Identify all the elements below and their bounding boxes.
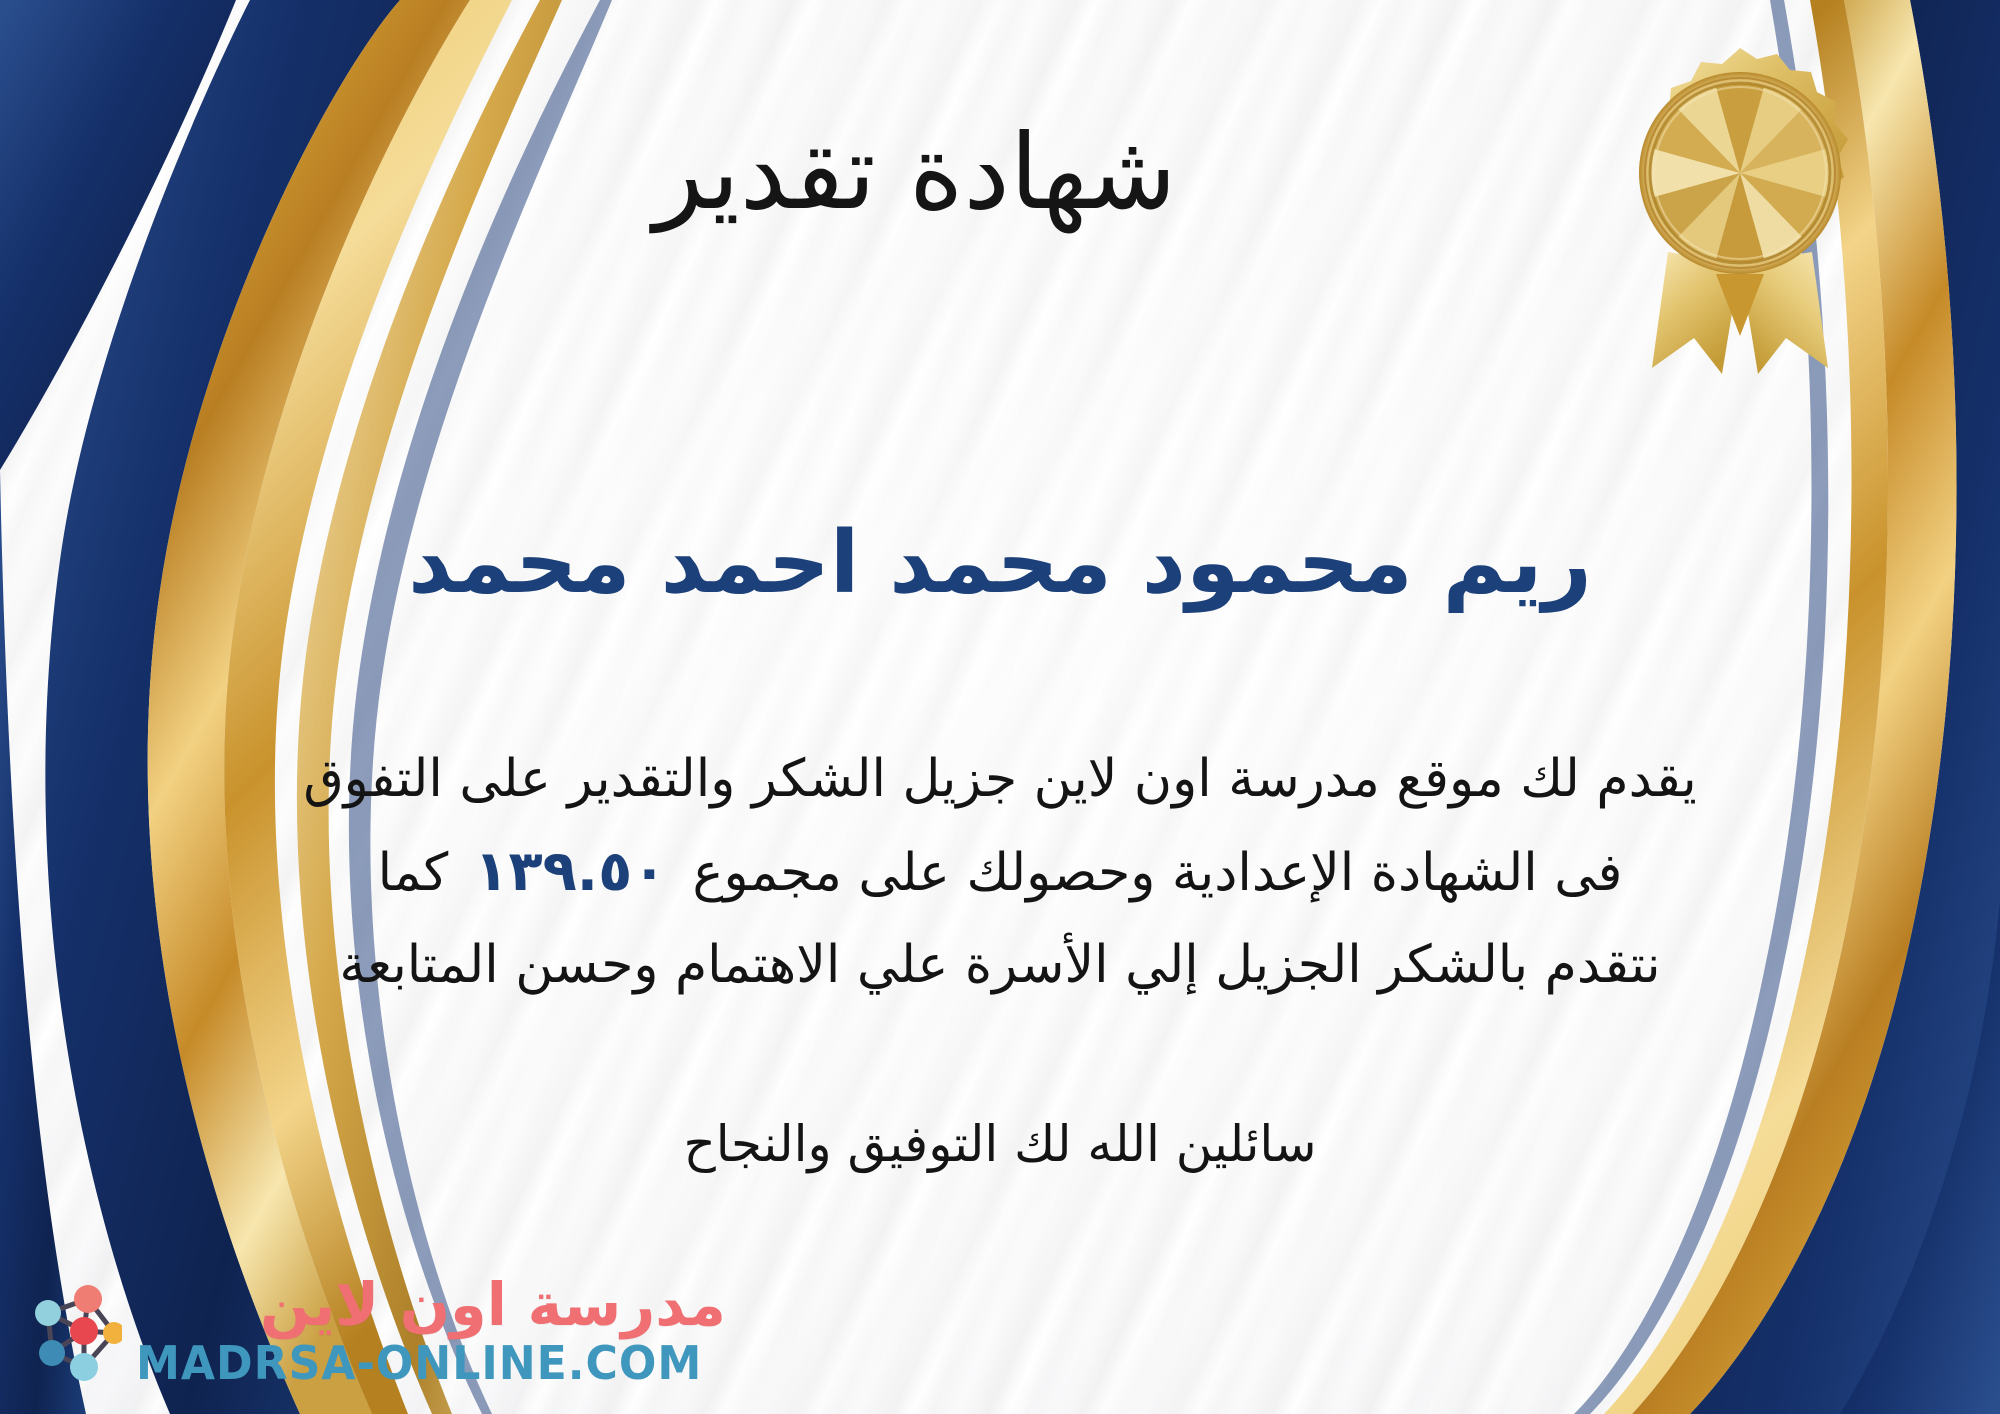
brand-arabic-name: مدرسة اون لاين bbox=[260, 1275, 726, 1334]
certificate-title: شهادة تقدير bbox=[0, 118, 2000, 227]
body-line-2: فى الشهادة الإعدادية وحصولك على مجموع١٣٩… bbox=[60, 824, 1940, 920]
body-line-1: يقدم لك موقع مدرسة اون لاين جزيل الشكر و… bbox=[60, 735, 1940, 824]
certificate-body: يقدم لك موقع مدرسة اون لاين جزيل الشكر و… bbox=[60, 735, 1940, 1010]
grade-value: ١٣٩.٥٠ bbox=[448, 839, 692, 904]
body-line-3: نتقدم بالشكر الجزيل إلي الأسرة علي الاهت… bbox=[60, 921, 1940, 1010]
brand-website: MADRSA-ONLINE.COM bbox=[136, 1340, 702, 1386]
brand-logo[interactable]: مدرسة اون لاين MADRSA-ONLINE.COM bbox=[26, 1275, 726, 1386]
certificate-content: شهادة تقدير ريم محمود محمد احمد محمد يقد… bbox=[0, 0, 2000, 1414]
brand-text: مدرسة اون لاين MADRSA-ONLINE.COM bbox=[136, 1275, 726, 1386]
network-nodes-icon bbox=[26, 1279, 122, 1383]
body-line-2-suffix: كما bbox=[378, 843, 449, 903]
certificate-canvas: شهادة تقدير ريم محمود محمد احمد محمد يقد… bbox=[0, 0, 2000, 1414]
body-line-2-prefix: فى الشهادة الإعدادية وحصولك على مجموع bbox=[692, 843, 1622, 903]
closing-wish: سائلين الله لك التوفيق والنجاح bbox=[0, 1115, 2000, 1173]
student-name: ريم محمود محمد احمد محمد bbox=[0, 516, 2000, 611]
